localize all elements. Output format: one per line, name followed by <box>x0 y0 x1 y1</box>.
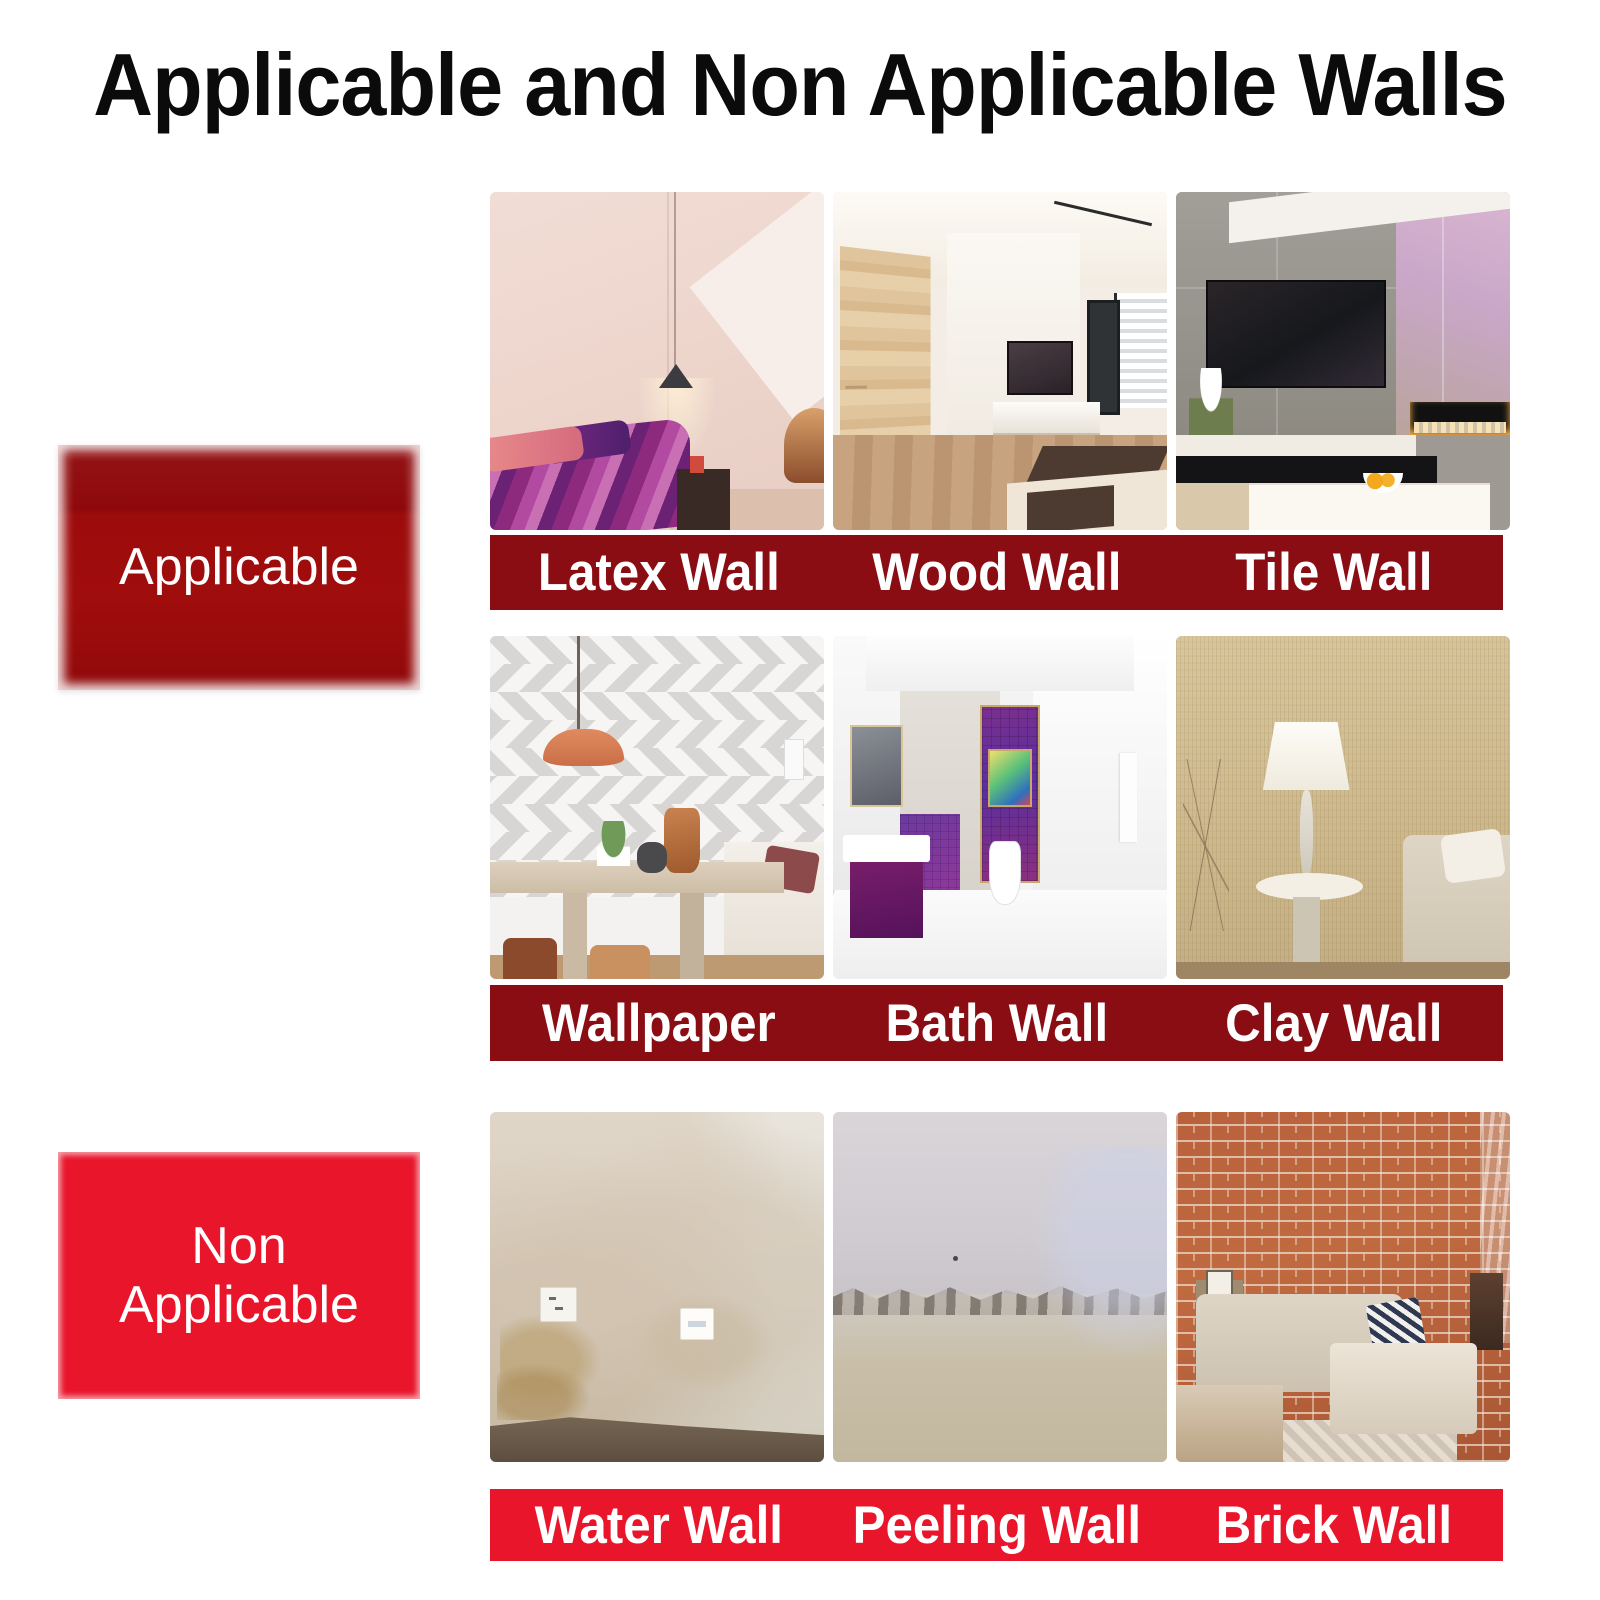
caption-wallpaper: Wallpaper <box>502 993 816 1054</box>
scene-water-wall <box>490 1112 824 1462</box>
badge-non-applicable-line2: Applicable <box>119 1276 359 1334</box>
photo-tile-peeling-wall <box>833 1112 1167 1462</box>
caption-bar-applicable-2: Wallpaper Bath Wall Clay Wall <box>490 985 1503 1061</box>
scene-bath-wall <box>833 636 1167 979</box>
scene-peeling-wall <box>833 1112 1167 1462</box>
caption-latex-wall: Latex Wall <box>502 542 816 603</box>
caption-brick-wall: Brick Wall <box>1177 1495 1491 1556</box>
caption-bar-non-applicable-1: Water Wall Peeling Wall Brick Wall <box>490 1489 1503 1561</box>
infographic-root: Applicable and Non Applicable Walls Appl… <box>0 0 1600 1600</box>
scene-wood-wall <box>833 192 1167 530</box>
photo-tile-latex-wall <box>490 192 824 530</box>
caption-clay-wall: Clay Wall <box>1177 993 1491 1054</box>
badge-non-applicable-line1: Non <box>191 1217 286 1275</box>
badge-applicable-label: Applicable <box>119 538 359 596</box>
photo-tile-wallpaper <box>490 636 824 979</box>
photo-tile-clay-wall <box>1176 636 1510 979</box>
badge-non-applicable: Non Applicable <box>58 1152 420 1399</box>
caption-water-wall: Water Wall <box>502 1495 816 1556</box>
photo-row-applicable-1 <box>490 192 1510 530</box>
scene-clay-wall <box>1176 636 1510 979</box>
photo-row-applicable-2 <box>490 636 1510 979</box>
photo-tile-bath-wall <box>833 636 1167 979</box>
photo-tile-wood-wall <box>833 192 1167 530</box>
photo-row-non-applicable-1 <box>490 1112 1510 1462</box>
photo-tile-tile-wall <box>1176 192 1510 530</box>
photo-tile-brick-wall <box>1176 1112 1510 1462</box>
scene-latex-wall <box>490 192 824 530</box>
caption-bar-applicable-1: Latex Wall Wood Wall Tile Wall <box>490 535 1503 610</box>
caption-tile-wall: Tile Wall <box>1177 542 1491 603</box>
caption-wood-wall: Wood Wall <box>839 542 1153 603</box>
caption-peeling-wall: Peeling Wall <box>839 1495 1153 1556</box>
caption-bath-wall: Bath Wall <box>839 993 1153 1054</box>
badge-applicable: Applicable <box>58 445 420 690</box>
photo-tile-water-wall <box>490 1112 824 1462</box>
scene-wallpaper <box>490 636 824 979</box>
scene-brick-wall <box>1176 1112 1510 1462</box>
scene-tile-wall <box>1176 192 1510 530</box>
page-title: Applicable and Non Applicable Walls <box>48 34 1552 136</box>
